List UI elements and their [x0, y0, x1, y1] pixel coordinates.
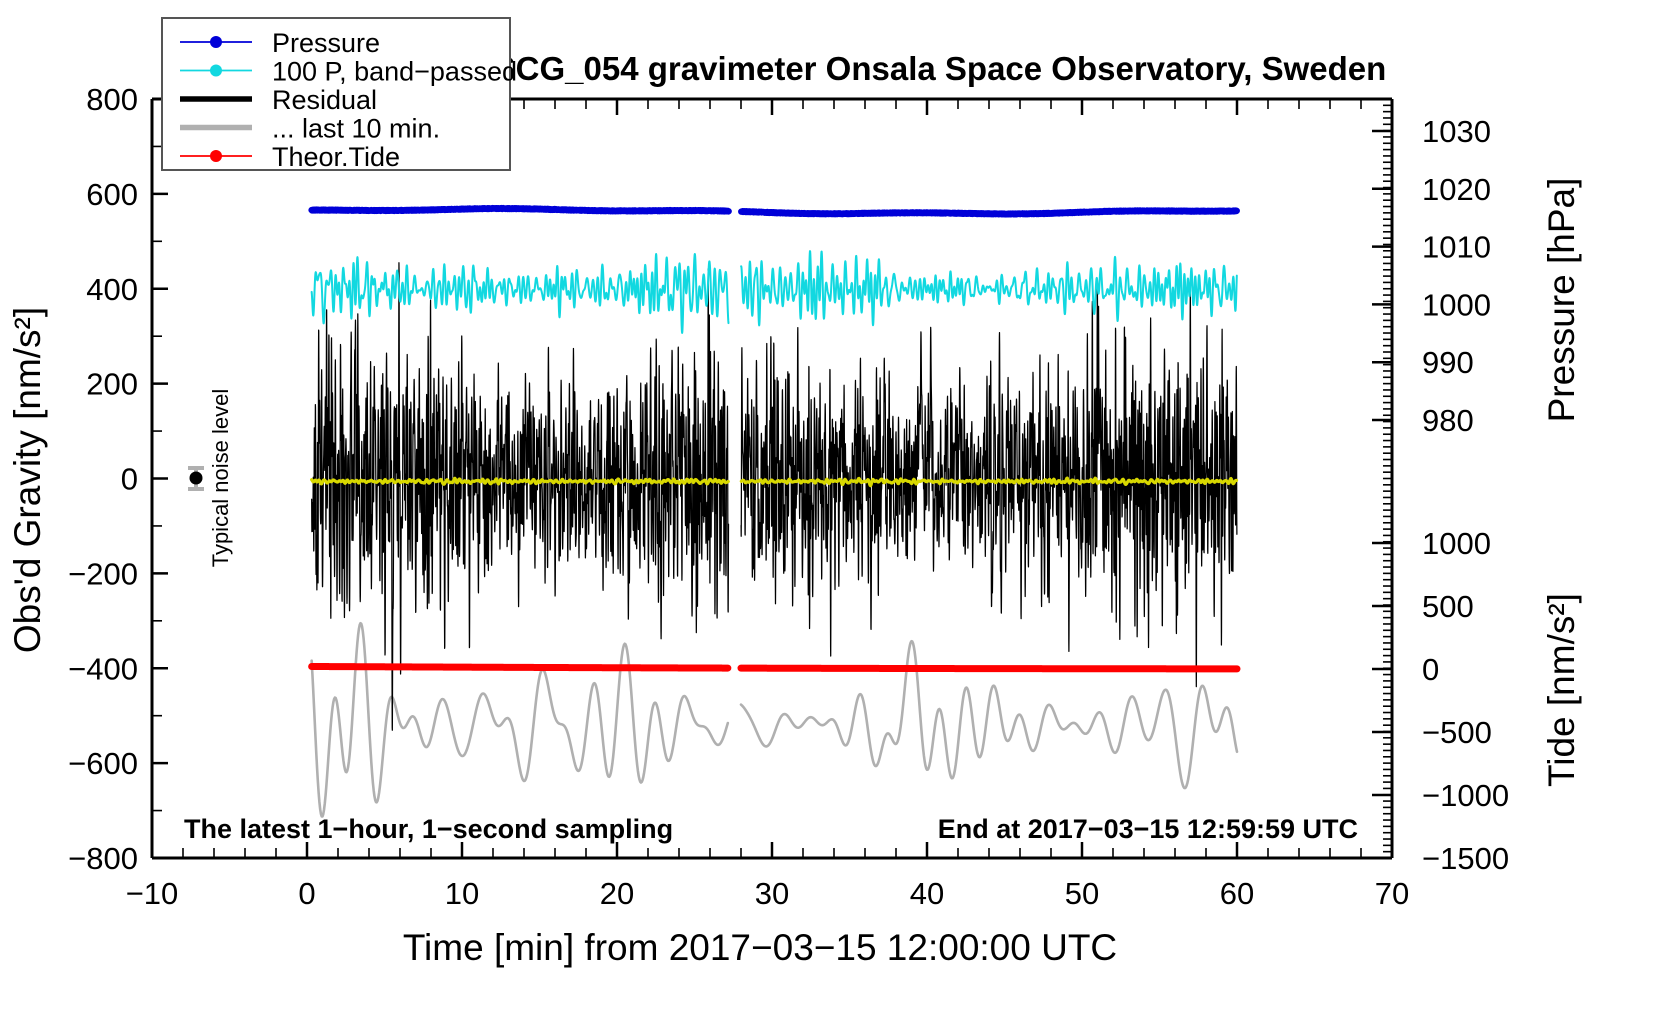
page-title: SCG_054 gravimeter Onsala Space Observat…	[494, 50, 1387, 87]
bottom-tick-label: −10	[126, 876, 179, 911]
right-pressure-tick-label: 980	[1422, 403, 1474, 438]
right-pressure-tick-label: 1000	[1422, 287, 1491, 322]
bottom-tick-label: 50	[1065, 876, 1099, 911]
legend-item-label: Residual	[272, 85, 377, 115]
end-time-note: End at 2017−03−15 12:59:59 UTC	[938, 814, 1358, 844]
left-axis-title: Obs'd Gravity [nm/s²]	[7, 307, 48, 653]
legend-marker-dot	[210, 65, 222, 77]
bottom-tick-label: 70	[1375, 876, 1409, 911]
legend-marker-dot	[210, 150, 222, 162]
left-tick-label: 0	[121, 462, 138, 497]
legend-marker-dot	[210, 36, 222, 48]
sampling-note: The latest 1−hour, 1−second sampling	[184, 814, 673, 844]
bottom-tick-label: 60	[1220, 876, 1254, 911]
bottom-axis-title: Time [min] from 2017−03−15 12:00:00 UTC	[403, 927, 1117, 968]
bottom-tick-label: 40	[910, 876, 944, 911]
left-tick-label: 400	[86, 272, 138, 307]
left-tick-label: −800	[68, 841, 138, 876]
trace-theoretical-tide-segment-1	[312, 666, 728, 668]
trace-pressure-segment-1	[312, 208, 729, 211]
legend-item-label: Theor.Tide	[272, 142, 400, 172]
left-tick-label: 800	[86, 82, 138, 117]
right-pressure-axis-title: Pressure [hPa]	[1541, 178, 1582, 423]
chart-page: 8006004002000−200−400−600−800 −100102030…	[0, 0, 1660, 1020]
legend-item-label: 100 P, band−passed	[272, 57, 517, 87]
legend: Pressure100 P, band−passedResidual... la…	[162, 18, 517, 172]
trace-theoretical-tide-segment-2	[741, 668, 1237, 669]
right-pressure-tick-label: 1030	[1422, 114, 1491, 149]
bottom-tick-label: 20	[600, 876, 634, 911]
legend-item-label: Pressure	[272, 28, 380, 58]
left-tick-label: 200	[86, 367, 138, 402]
trace-pressure-segment-2	[741, 211, 1236, 215]
bottom-tick-label: 30	[755, 876, 789, 911]
typical-noise-level-label: Typical noise level	[208, 389, 233, 568]
right-tide-tick-label: 500	[1422, 589, 1474, 624]
right-tide-tick-label: 0	[1422, 652, 1439, 687]
right-pressure-tick-label: 1010	[1422, 230, 1491, 265]
left-tick-label: −200	[68, 556, 138, 591]
right-pressure-tick-label: 990	[1422, 345, 1474, 380]
gravimeter-chart: 8006004002000−200−400−600−800 −100102030…	[0, 0, 1660, 1020]
right-tide-tick-label: −1000	[1422, 778, 1509, 813]
trace-theoretical-tide	[312, 666, 1237, 668]
right-tide-tick-label: 1000	[1422, 526, 1491, 561]
bottom-tick-label: 0	[298, 876, 315, 911]
left-tick-label: 600	[86, 177, 138, 212]
bottom-tick-label: 10	[445, 876, 479, 911]
left-tick-label: −400	[68, 651, 138, 686]
right-tide-tick-label: −1500	[1422, 841, 1509, 876]
legend-item-label: ... last 10 min.	[272, 114, 440, 144]
left-tick-label: −600	[68, 746, 138, 781]
right-tide-axis-title: Tide [nm/s²]	[1541, 593, 1582, 787]
right-pressure-tick-label: 1020	[1422, 172, 1491, 207]
right-tide-tick-label: −500	[1422, 715, 1492, 750]
